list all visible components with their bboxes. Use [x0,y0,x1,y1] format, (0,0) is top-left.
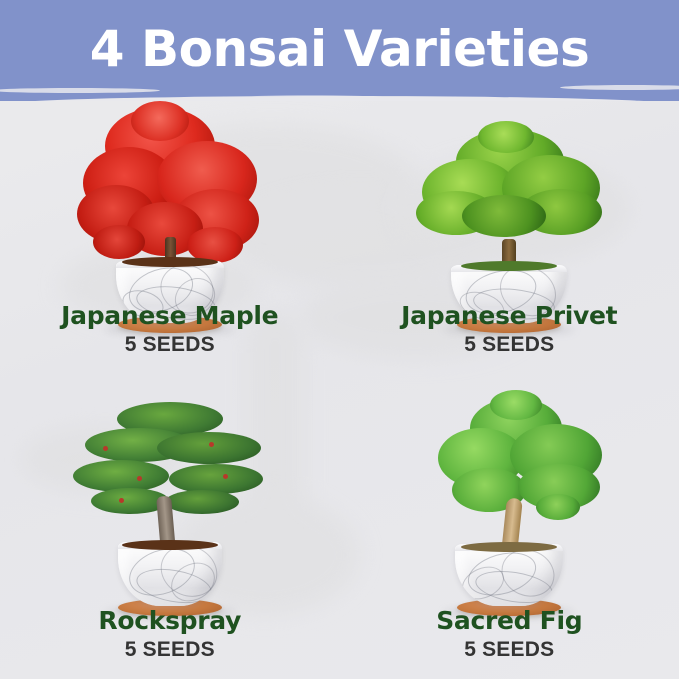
privet-soil [461,261,557,271]
sacred-fig-pot-icon [455,544,563,606]
product-name: Rockspray [0,606,340,636]
seed-count: 5 SEEDS [0,332,340,358]
maple-soil [122,257,218,267]
japanese-maple-image [0,101,340,333]
product-image: 4 Bonsai Varieties [0,0,679,679]
product-name: Japanese Maple [0,301,340,331]
seed-count: 5 SEEDS [340,637,679,663]
sacred-fig-foliage-icon [436,398,606,548]
page-title: 4 Bonsai Varieties [0,17,679,81]
product-name: Japanese Privet [340,301,679,331]
japanese-privet-image [340,101,679,333]
product-card-sacred-fig[interactable]: Sacred Fig 5 SEEDS [340,390,679,679]
product-card-japanese-privet[interactable]: Japanese Privet 5 SEEDS [340,101,679,390]
product-card-rockspray[interactable]: Rockspray 5 SEEDS [0,390,340,679]
sacred-fig-image [340,398,679,616]
sacred-fig-soil [461,542,557,552]
seed-count: 5 SEEDS [340,332,679,358]
product-grid: Japanese Maple 5 SEEDS [0,101,679,679]
seed-count: 5 SEEDS [0,637,340,663]
product-name: Sacred Fig [340,606,679,636]
rockspray-image [0,398,340,616]
header-banner: 4 Bonsai Varieties [0,0,679,101]
rockspray-soil [122,540,218,550]
rockspray-pot-icon [118,542,222,606]
product-card-japanese-maple[interactable]: Japanese Maple 5 SEEDS [0,101,340,390]
